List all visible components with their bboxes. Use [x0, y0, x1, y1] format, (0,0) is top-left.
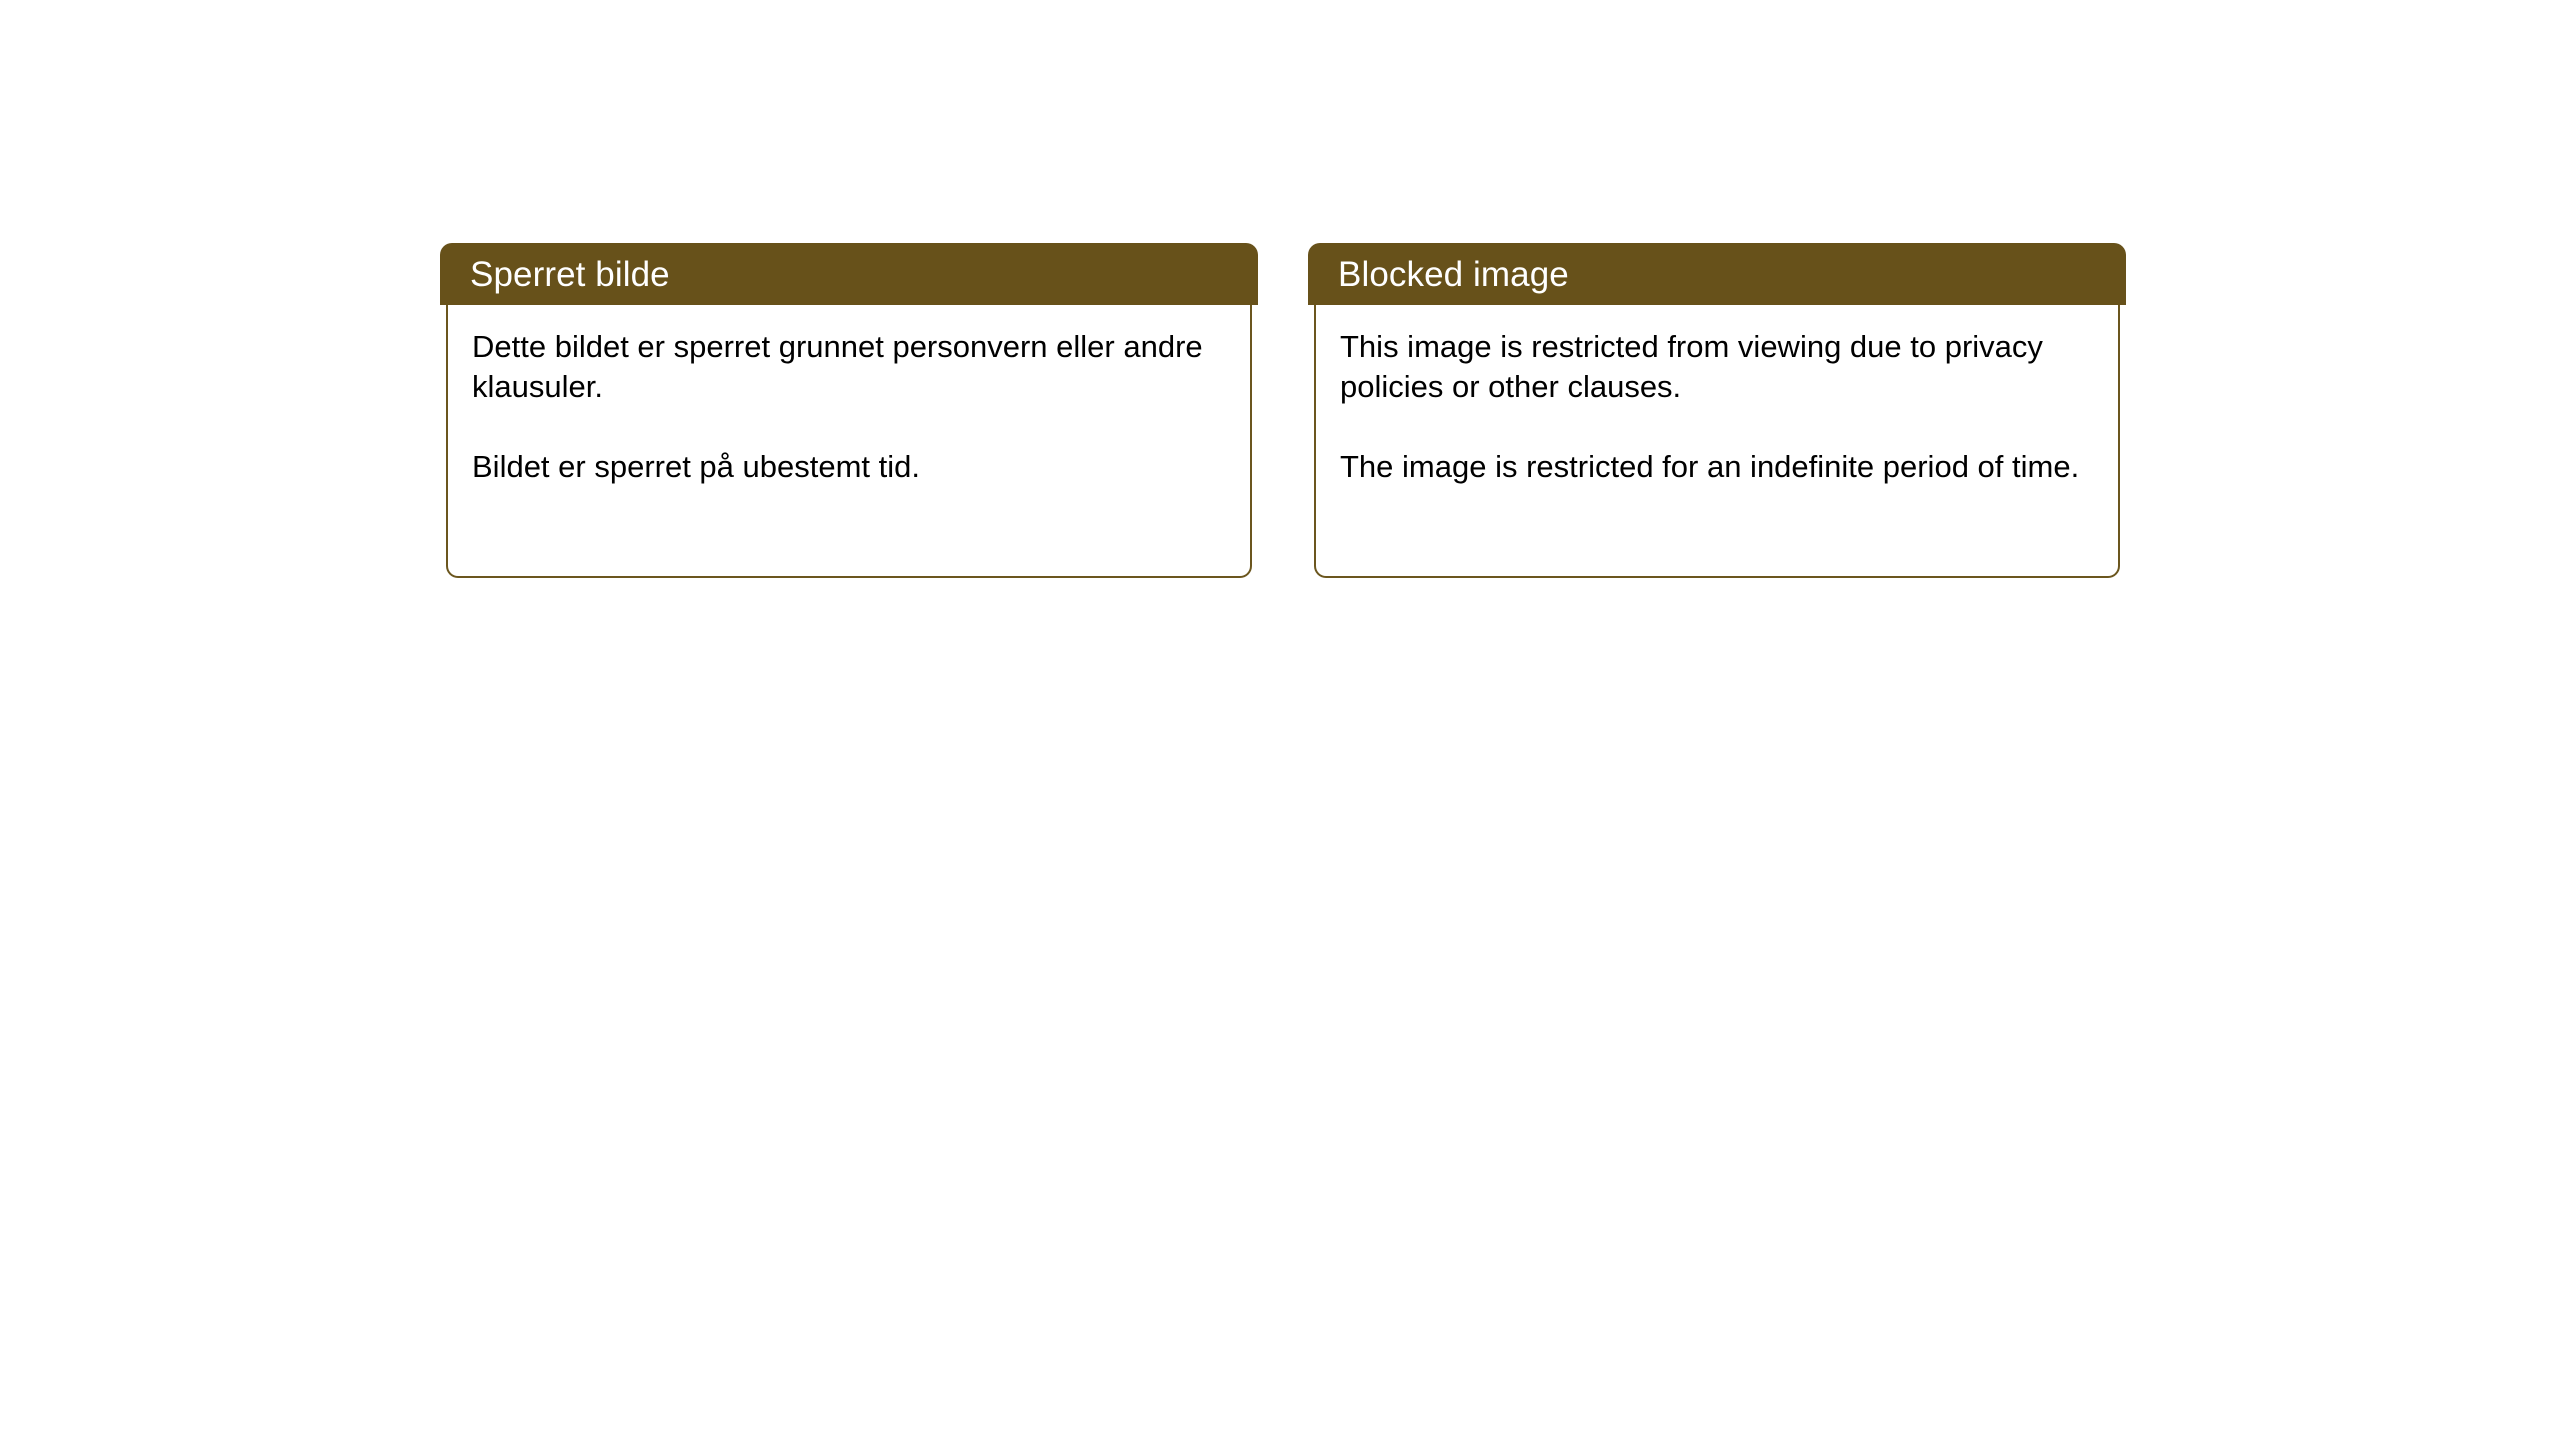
notice-header-norwegian: Sperret bilde	[440, 243, 1258, 305]
notice-paragraph-reason-norwegian: Dette bildet er sperret grunnet personve…	[472, 327, 1212, 407]
blocked-image-notice-english: Blocked image This image is restricted f…	[1314, 243, 2120, 578]
notice-title-norwegian: Sperret bilde	[470, 257, 670, 292]
notice-body-english: This image is restricted from viewing du…	[1314, 305, 2120, 578]
notice-header-english: Blocked image	[1308, 243, 2126, 305]
notice-title-english: Blocked image	[1338, 257, 1569, 292]
notice-body-norwegian: Dette bildet er sperret grunnet personve…	[446, 305, 1252, 578]
blocked-image-notice-norwegian: Sperret bilde Dette bildet er sperret gr…	[446, 243, 1252, 578]
blocked-image-notice-area: Sperret bilde Dette bildet er sperret gr…	[446, 243, 2120, 578]
notice-paragraph-duration-norwegian: Bildet er sperret på ubestemt tid.	[472, 447, 1212, 487]
notice-paragraph-reason-english: This image is restricted from viewing du…	[1340, 327, 2080, 407]
notice-paragraph-duration-english: The image is restricted for an indefinit…	[1340, 447, 2080, 487]
